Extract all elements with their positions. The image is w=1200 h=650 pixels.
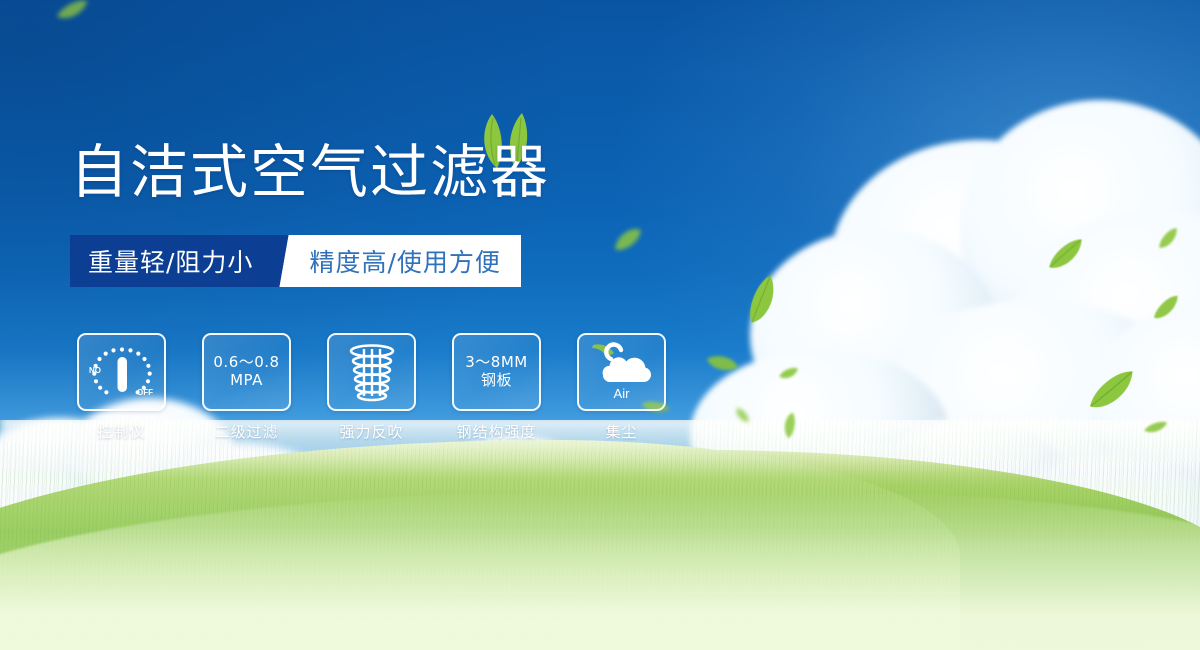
pressure-unit: MPA: [213, 372, 279, 390]
pressure-value: 0.6～0.8: [213, 354, 279, 372]
feature-item-steel-strength[interactable]: 3～8MM 钢板 钢结构强度: [445, 333, 548, 442]
feature-icon-box: Air: [577, 333, 666, 411]
feature-icon-box: [327, 333, 416, 411]
feature-icon-box: 3～8MM 钢板: [452, 333, 541, 411]
subtitle-bar: 重量轻/阻力小 精度高/使用方便: [70, 235, 521, 287]
svg-text:OFF: OFF: [137, 388, 153, 397]
subtitle-right: 精度高/使用方便: [303, 235, 520, 287]
feature-label: 控制仪: [97, 421, 145, 442]
subtitle-separator: [275, 235, 303, 287]
pressure-icon: 0.6～0.8 MPA: [213, 354, 279, 389]
steel-thickness: 3～8MM: [465, 354, 527, 372]
feature-item-dust-collection[interactable]: Air 集尘: [570, 333, 673, 442]
svg-text:NO: NO: [89, 366, 101, 375]
steel-material: 钢板: [465, 372, 527, 390]
air-label: Air: [579, 386, 664, 401]
feature-item-controller[interactable]: NO OFF 控制仪: [70, 333, 173, 442]
page-title: 自洁式空气过滤器: [70, 143, 550, 201]
product-banner: 自洁式空气过滤器 重量轻/阻力小 精度高/使用方便: [0, 0, 1200, 650]
feature-item-blowback[interactable]: 强力反吹: [320, 333, 423, 442]
subtitle-left: 重量轻/阻力小: [70, 235, 275, 287]
feature-label: 二级过滤: [214, 421, 278, 442]
feature-item-filtration[interactable]: 0.6～0.8 MPA 二级过滤: [195, 333, 298, 442]
feature-label: 钢结构强度: [456, 421, 536, 442]
gauge-icon: NO OFF: [83, 339, 161, 405]
feature-label: 集尘: [605, 421, 637, 442]
steelplate-icon: 3～8MM 钢板: [465, 354, 527, 389]
feature-icon-box: NO OFF: [77, 333, 166, 411]
coil-icon: [343, 341, 401, 403]
feature-label: 强力反吹: [339, 421, 403, 442]
feature-list: NO OFF 控制仪 0.6～0.8 MPA 二级过滤: [70, 333, 673, 442]
feature-icon-box: 0.6～0.8 MPA: [202, 333, 291, 411]
